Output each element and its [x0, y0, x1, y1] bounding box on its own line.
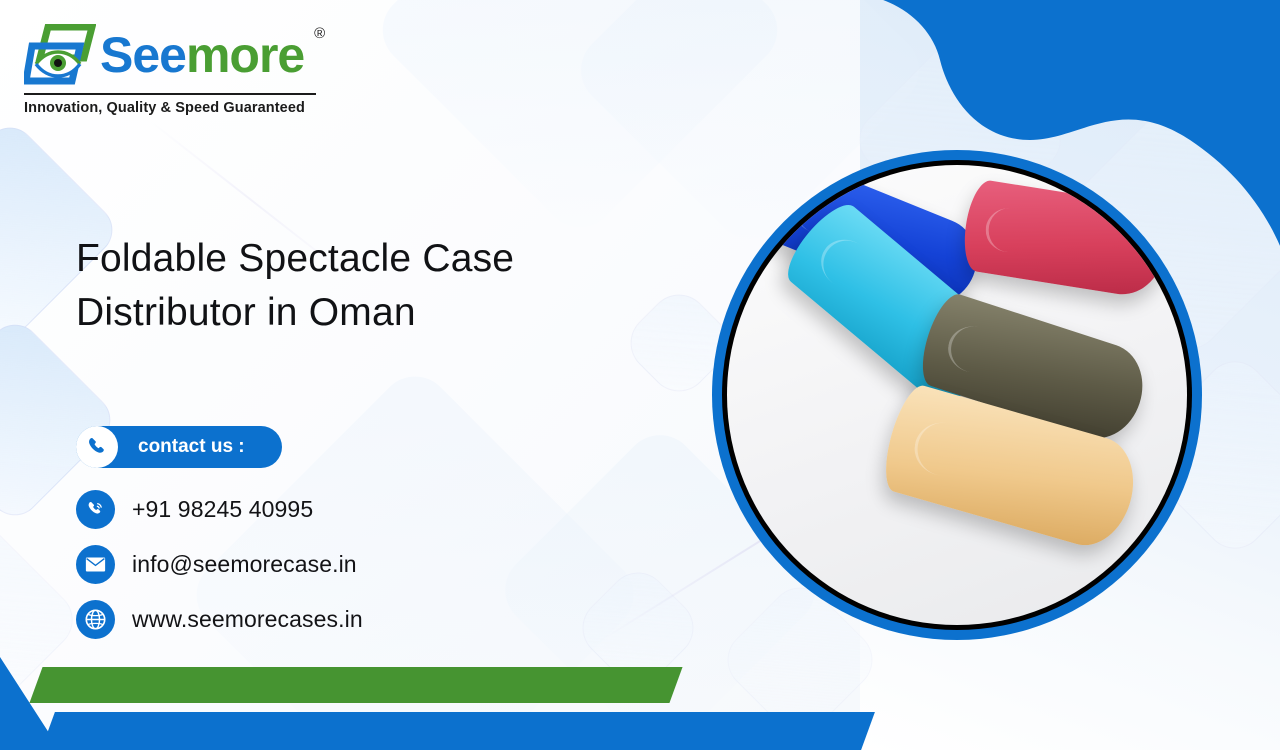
headline-line-2: Distributor in Oman	[76, 291, 416, 334]
red-pink-case	[959, 178, 1171, 300]
contact-us-badge[interactable]: contact us :	[76, 426, 282, 468]
phone-number: +91 98245 40995	[132, 496, 313, 523]
blue-corner-triangle	[0, 657, 60, 750]
phone-handset-glyph	[85, 435, 109, 459]
logo-word-more: more	[186, 27, 304, 83]
phone-icon	[76, 490, 115, 529]
website-url: www.seemorecases.in	[132, 606, 363, 633]
phone-handset-icon	[76, 426, 118, 468]
brand-logo[interactable]: Seemore® Innovation, Quality & Speed Gua…	[24, 22, 324, 116]
product-photo	[727, 165, 1187, 625]
contact-row-email[interactable]: info@seemorecase.in	[76, 545, 363, 584]
promo-banner: Seemore® Innovation, Quality & Speed Gua…	[0, 0, 1280, 750]
contact-row-phone[interactable]: +91 98245 40995	[76, 490, 363, 529]
envelope-icon	[76, 545, 115, 584]
product-image-circle	[712, 150, 1202, 640]
logo-wordmark: Seemore®	[100, 30, 304, 80]
brand-tagline: Innovation, Quality & Speed Guaranteed	[24, 100, 324, 116]
diagonal-sheet	[368, 0, 792, 242]
logo-divider	[24, 93, 316, 95]
green-accent-bar	[29, 667, 682, 703]
page-title: Foldable Spectacle Case Distributor in O…	[76, 232, 636, 340]
contact-row-website[interactable]: www.seemorecases.in	[76, 600, 363, 639]
logo-word-see: See	[100, 27, 186, 83]
contact-us-label: contact us :	[138, 436, 245, 458]
headline-line-1: Foldable Spectacle Case	[76, 237, 514, 280]
envelope-glyph	[85, 556, 106, 573]
eye-in-frame-logo-icon	[24, 24, 96, 86]
email-address: info@seemorecase.in	[132, 551, 357, 578]
product-ring-inner	[722, 160, 1192, 630]
contact-details-list: +91 98245 40995 info@seemorecase.in	[76, 490, 363, 639]
registered-trademark-icon: ®	[314, 26, 324, 41]
globe-icon	[76, 600, 115, 639]
globe-glyph	[84, 608, 107, 631]
phone-glyph	[85, 499, 106, 520]
blue-accent-bar	[41, 712, 875, 750]
